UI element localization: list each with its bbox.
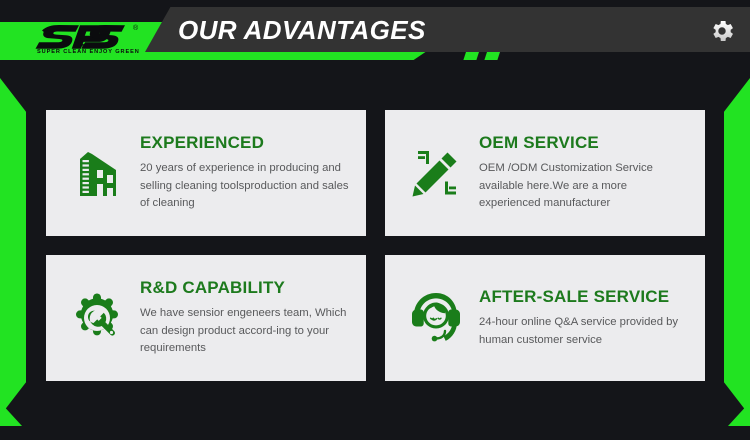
factory-building-icon [64,140,130,206]
card-description: 24-hour online Q&A service provided by h… [479,314,691,349]
card-text-block: EXPERIENCED 20 years of experience in pr… [140,133,352,213]
advantage-card-after-sale-service[interactable]: AFTER-SALE SERVICE 24-hour online Q&A se… [385,255,705,381]
pencil-customization-icon [403,140,469,206]
page-title: OUR ADVANTAGES [178,15,426,46]
card-title: OEM SERVICE [479,133,691,153]
bottom-right-corner-accent [728,402,750,426]
left-edge-decoration [0,78,26,416]
card-description: We have sensior engeneers team, Which ca… [140,305,352,358]
logo-tagline: SUPER CLEAN ENJOY GREEN [37,49,137,55]
card-text-block: AFTER-SALE SERVICE 24-hour online Q&A se… [479,287,691,349]
gear-icon[interactable] [708,17,736,45]
card-text-block: R&D CAPABILITY We have sensior engeneers… [140,278,352,358]
right-edge-decoration [724,78,750,416]
card-title: R&D CAPABILITY [140,278,352,298]
advantage-card-experienced[interactable]: EXPERIENCED 20 years of experience in pr… [46,110,366,236]
brand-logo[interactable]: ® SUPER CLEAN ENJOY GREEN [33,22,141,62]
page-header: OUR ADVANTAGES [0,0,750,72]
card-description: OEM /ODM Customization Service available… [479,160,691,213]
bottom-left-corner-accent [0,402,22,426]
card-title: EXPERIENCED [140,133,352,153]
sps-logo-mark: ® [33,22,141,50]
card-title: AFTER-SALE SERVICE [479,287,691,307]
advantage-card-rd-capability[interactable]: R&D CAPABILITY We have sensior engeneers… [46,255,366,381]
advantage-card-oem-service[interactable]: OEM SERVICE OEM /ODM Customization Servi… [385,110,705,236]
advantage-cards-grid: EXPERIENCED 20 years of experience in pr… [46,110,705,381]
advantages-banner: OUR ADVANTAGES [0,0,750,440]
registered-mark: ® [133,24,139,32]
gear-wrench-icon [64,285,130,351]
card-description: 20 years of experience in producing and … [140,160,352,213]
headset-support-icon [403,285,469,351]
card-text-block: OEM SERVICE OEM /ODM Customization Servi… [479,133,691,213]
